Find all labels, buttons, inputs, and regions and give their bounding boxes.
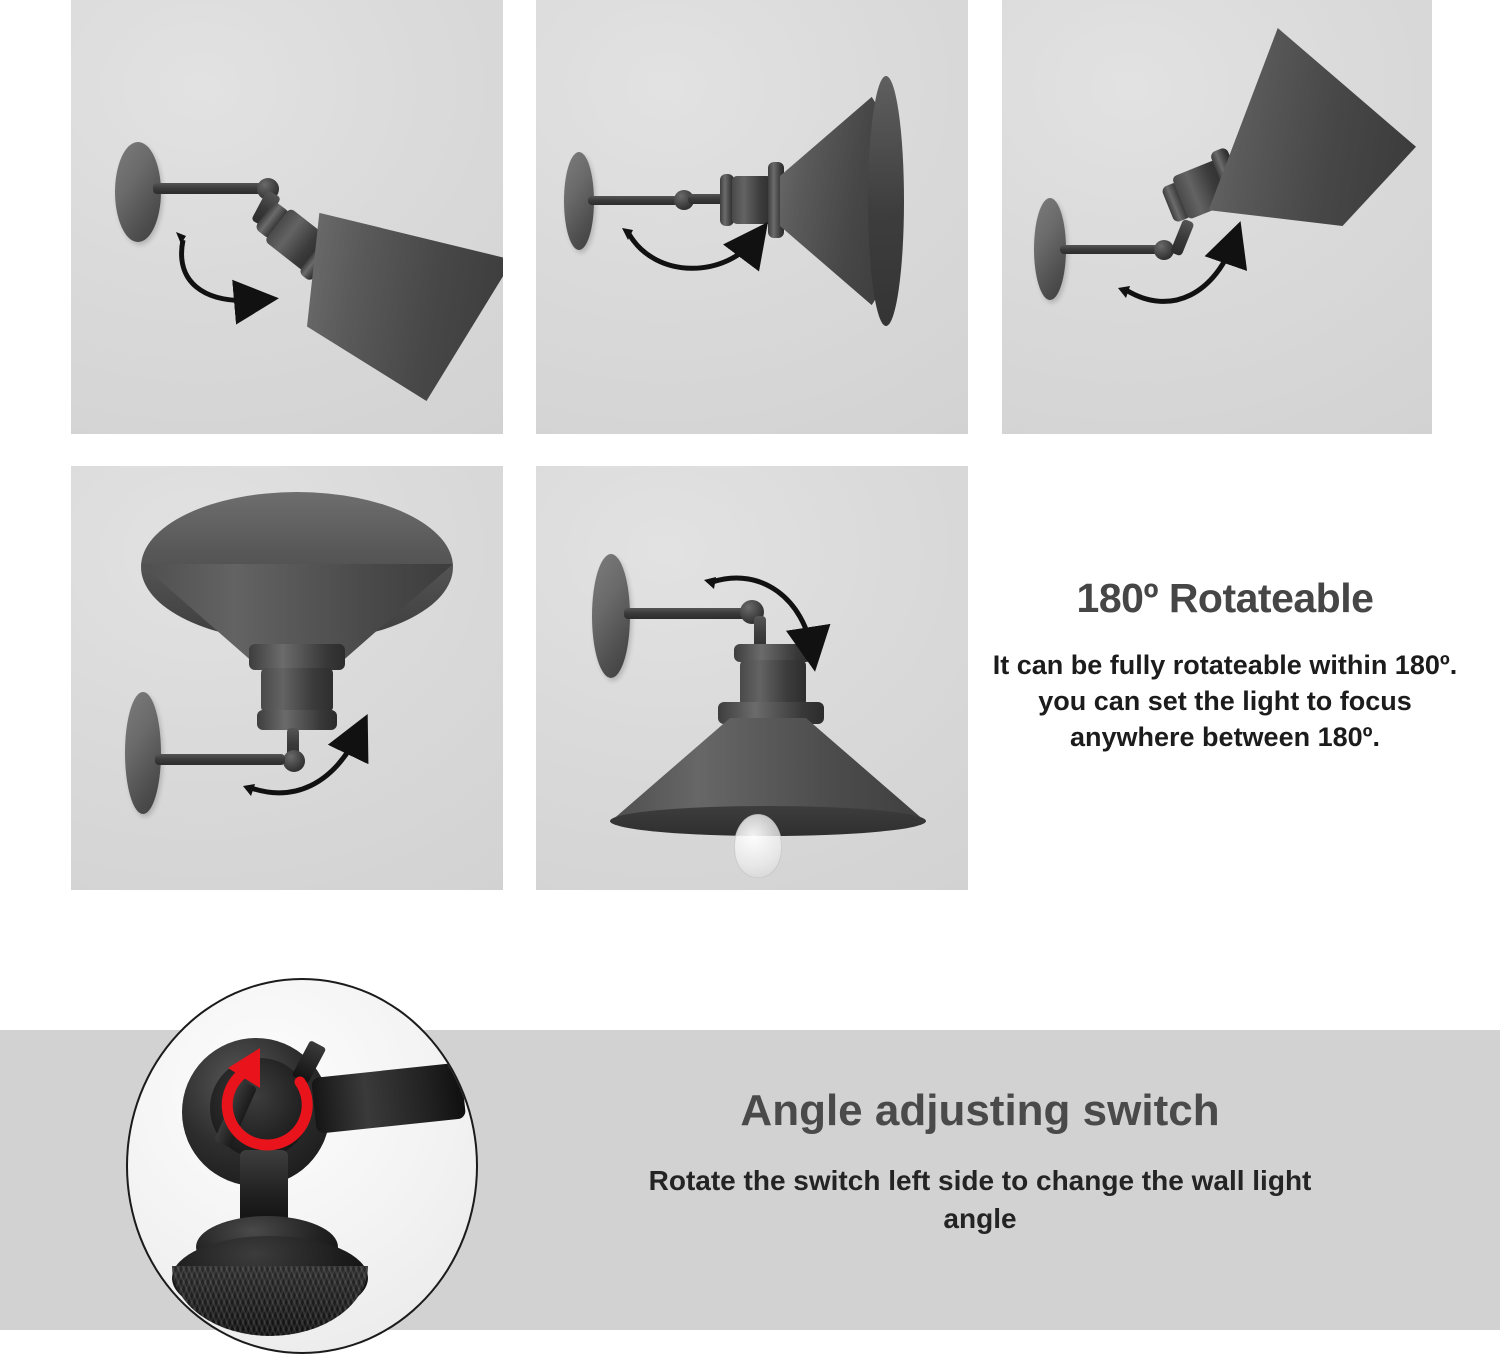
panel-3-backdrop [1002,0,1432,434]
socket-barrel [732,176,772,224]
lamp-shade-rim [868,76,904,326]
angle-switch-headline: Angle adjusting switch [560,1086,1400,1136]
socket-barrel [740,660,806,706]
socket-barrel [261,668,333,712]
joint-link [688,194,724,204]
product-panel-5 [536,466,968,890]
support-arm [1060,245,1158,254]
light-bulb [734,814,782,878]
support-arm [155,754,285,765]
support-arm [153,183,263,194]
product-panel-2 [536,0,968,434]
swivel-joint [283,750,305,772]
product-panel-3 [1002,0,1432,434]
angle-switch-copy: Angle adjusting switch Rotate the switch… [560,1086,1400,1238]
socket-collar [257,710,337,730]
product-panel-1 [71,0,503,434]
rotateable-feature-copy: 180º Rotateable It can be fully rotateab… [975,575,1475,756]
shade-collar [249,644,345,670]
product-panel-4 [71,466,503,890]
support-arm [624,608,746,619]
angle-switch-body: Rotate the switch left side to change th… [560,1162,1400,1238]
rotateable-headline: 180º Rotateable [975,575,1475,622]
rotate-left-arrow-icon [200,1042,350,1172]
wall-plate [125,692,161,814]
switch-detail-photo [126,978,478,1354]
support-arm [588,196,678,205]
rotateable-body: It can be fully rotateable within 180º. … [975,648,1475,756]
